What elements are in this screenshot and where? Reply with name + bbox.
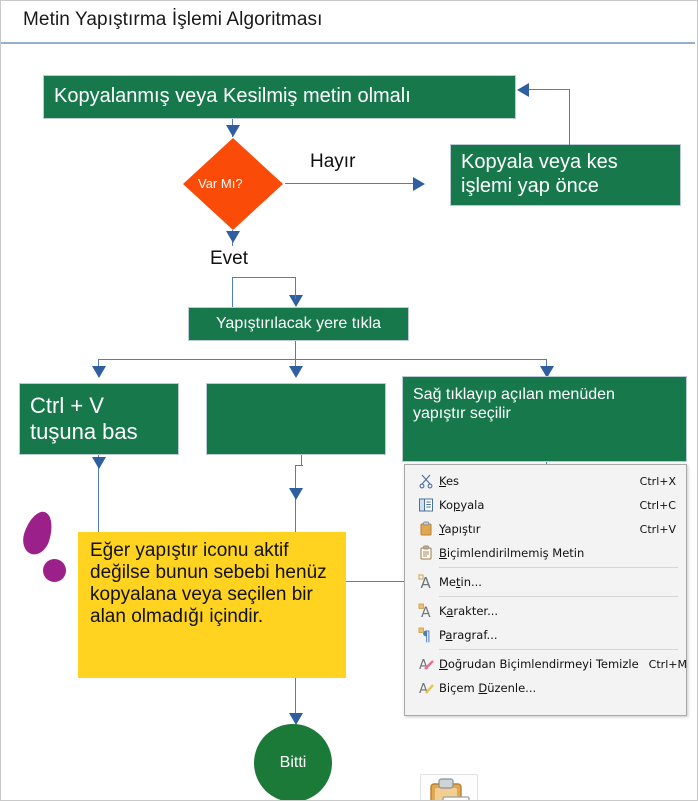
title-divider — [1, 42, 695, 44]
context-menu-item-label: Biçem Düzenle... — [439, 681, 666, 695]
svg-text:A: A — [419, 658, 428, 672]
node-decision-label: Var Mı? — [198, 176, 243, 191]
node-option-paste-main: Yapıştır — [479, 770, 557, 795]
copy-icon — [413, 497, 439, 513]
context-menu-item-label: Metin... — [439, 575, 666, 589]
context-menu-item[interactable]: Biçimlendirilmemiş Metin — [405, 541, 686, 565]
context-menu-item[interactable]: AKarakter... — [405, 599, 686, 623]
edit-style-icon: A — [413, 680, 439, 696]
node-start-box-label: Kopyalanmış veya Kesilmiş metin olmalı — [44, 85, 421, 109]
arrowhead-paste-tail — [289, 488, 303, 500]
context-menu-item-label: Karakter... — [439, 604, 666, 618]
edge-yes-to-click — [232, 277, 233, 307]
arrowhead-decision-no — [413, 177, 425, 191]
node-click-target-box: Yapıştırılacak yere tıkla — [188, 307, 409, 341]
context-menu-item-label: Biçimlendirilmemiş Metin — [439, 546, 666, 560]
node-end-circle: Bitti — [254, 724, 332, 801]
edge-decision-no — [285, 183, 415, 184]
node-option-ctrlv-label: Ctrl + V tuşuna bas — [20, 393, 148, 445]
node-option-paste-text: Yapıştır Iconuna bas — [479, 770, 557, 801]
note-callout-text: Eğer yapıştır iconu aktif değilse bunun … — [90, 540, 327, 627]
edge-paste-tail-a — [301, 455, 302, 465]
context-menu-item[interactable]: ADoğrudan Biçimlendirmeyi TemizleCtrl+M — [405, 652, 686, 676]
exclamation-dot-icon — [43, 559, 66, 582]
clipboard-text-icon — [413, 545, 439, 561]
node-option-paste-icon: Yapıştır Iconuna bas — [206, 383, 386, 455]
arrowhead-split-left — [92, 366, 106, 378]
arrowhead-feedback-to-start — [517, 83, 529, 97]
clipboard-paste-icon — [420, 774, 478, 801]
node-copy-first-label: Kopyala veya kes işlemi yap önce — [451, 151, 628, 198]
clipboard-paste-icon — [413, 521, 439, 537]
edge-feedback-vertical — [569, 89, 570, 145]
node-option-rightclick-label: Sağ tıklayıp açılan menüden yapıştır seç… — [403, 377, 625, 424]
context-menu-item-label: Yapıştır — [439, 522, 630, 536]
context-menu-item-shortcut: Ctrl+M — [649, 658, 687, 671]
arrowhead-decision-yes — [226, 231, 240, 243]
node-option-paste-sub: Iconuna bas — [479, 795, 557, 801]
context-menu-item-shortcut: Ctrl+C — [640, 499, 676, 512]
context-menu-item-shortcut: Ctrl+X — [640, 475, 676, 488]
context-menu-item[interactable]: ¶Paragraf... — [405, 623, 686, 647]
context-menu-separator — [439, 596, 678, 597]
arrowhead-split-mid — [289, 366, 303, 378]
paragraph-format-icon: ¶ — [413, 627, 439, 643]
edge-split-bar — [98, 359, 547, 360]
svg-text:A: A — [419, 682, 428, 696]
character-format-icon: A — [413, 603, 439, 619]
node-copy-first-box: Kopyala veya kes işlemi yap önce — [450, 144, 681, 206]
node-start-box: Kopyalanmış veya Kesilmiş metin olmalı — [43, 75, 516, 119]
edge-feedback-horizontal — [529, 89, 570, 90]
context-menu-item[interactable]: KopyalaCtrl+C — [405, 493, 686, 517]
context-menu-separator — [439, 567, 678, 568]
edge-click-to-split — [295, 341, 296, 360]
edge-label-yes: Evet — [210, 248, 248, 270]
context-menu-item-shortcut: Ctrl+V — [640, 523, 676, 536]
page-title: Metin Yapıştırma İşlemi Algoritması — [23, 9, 323, 31]
flowchart-canvas: Metin Yapıştırma İşlemi Algoritması Meti… — [0, 0, 698, 801]
context-menu[interactable]: KesCtrl+XKopyalaCtrl+CYapıştırCtrl+VBiçi… — [404, 464, 687, 716]
node-click-target-label: Yapıştırılacak yere tıkla — [206, 315, 391, 334]
scissors-icon — [413, 473, 439, 489]
node-end-label: Bitti — [280, 754, 307, 772]
node-option-ctrlv: Ctrl + V tuşuna bas — [19, 383, 179, 455]
exclamation-body-icon — [19, 508, 57, 558]
context-menu-item-label: Doğrudan Biçimlendirmeyi Temizle — [439, 657, 639, 671]
context-menu-item-label: Kes — [439, 474, 630, 488]
arrowhead-ctrlv-tail — [92, 457, 106, 469]
note-callout: Eğer yapıştır iconu aktif değilse bunun … — [78, 532, 346, 678]
edge-yes-drop — [295, 277, 296, 299]
svg-text:A: A — [421, 574, 432, 590]
context-menu-item-label: Kopyala — [439, 498, 630, 512]
context-menu-item[interactable]: KesCtrl+X — [405, 469, 686, 493]
clear-formatting-icon: A — [413, 656, 439, 672]
context-menu-items: KesCtrl+XKopyalaCtrl+CYapıştırCtrl+VBiçi… — [405, 469, 686, 700]
context-menu-separator — [439, 649, 678, 650]
text-format-icon: A — [413, 574, 439, 590]
node-option-rightclick: Sağ tıklayıp açılan menüden yapıştır seç… — [402, 376, 687, 462]
context-menu-item[interactable]: AMetin... — [405, 570, 686, 594]
edge-yes-cross — [232, 277, 296, 278]
edge-label-no: Hayır — [310, 151, 355, 173]
ghost-title-text: Metin Yapıştırma İşlemi Algoritması — [49, 0, 314, 1]
context-menu-item[interactable]: ABiçem Düzenle... — [405, 676, 686, 700]
context-menu-item-label: Paragraf... — [439, 628, 666, 642]
context-menu-item[interactable]: YapıştırCtrl+V — [405, 517, 686, 541]
